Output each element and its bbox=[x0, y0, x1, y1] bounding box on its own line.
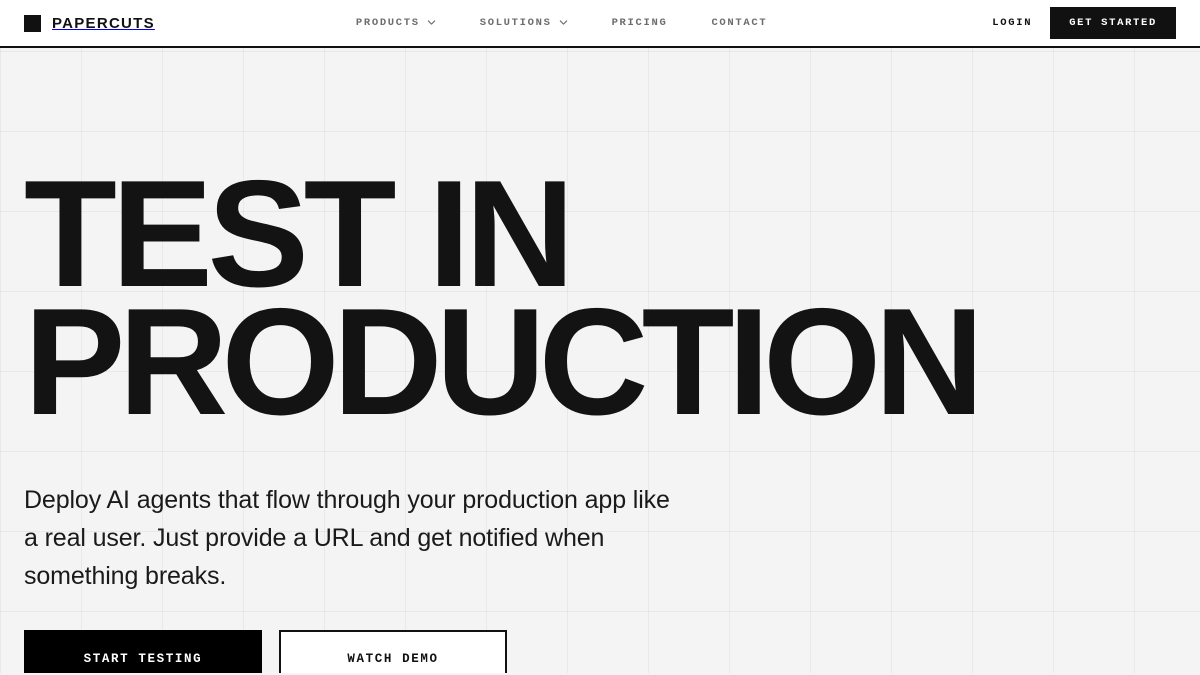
page-title: TEST IN PRODUCTION bbox=[24, 170, 1144, 427]
nav-item-label: CONTACT bbox=[711, 17, 767, 29]
hero-subtitle: Deploy AI agents that flow through your … bbox=[24, 481, 684, 596]
nav-item-products[interactable]: PRODUCTS bbox=[356, 17, 436, 29]
get-started-button[interactable]: GET STARTED bbox=[1050, 7, 1176, 40]
brand-name: PAPERCUTS bbox=[52, 16, 155, 31]
nav-item-label: SOLUTIONS bbox=[480, 17, 552, 29]
nav-item-label: PRODUCTS bbox=[356, 17, 420, 29]
brand-logo[interactable]: PAPERCUTS bbox=[24, 15, 155, 32]
main-nav: PRODUCTS SOLUTIONS PRICING CONTACT bbox=[356, 17, 767, 29]
start-testing-button[interactable]: START TESTING bbox=[24, 630, 262, 673]
site-header: PAPERCUTS PRODUCTS SOLUTIONS PRICING CON… bbox=[0, 0, 1200, 48]
watch-demo-button[interactable]: WATCH DEMO bbox=[279, 630, 507, 673]
login-link[interactable]: LOGIN bbox=[992, 17, 1032, 29]
page-title-line-2: PRODUCTION bbox=[24, 298, 1144, 426]
chevron-down-icon bbox=[559, 18, 568, 27]
hero-content: TEST IN PRODUCTION Deploy AI agents that… bbox=[0, 48, 1200, 673]
header-actions: LOGIN GET STARTED bbox=[992, 0, 1200, 46]
nav-item-contact[interactable]: CONTACT bbox=[711, 17, 767, 29]
chevron-down-icon bbox=[427, 18, 436, 27]
hero-button-group: START TESTING WATCH DEMO bbox=[24, 630, 1200, 673]
nav-item-label: PRICING bbox=[612, 17, 668, 29]
nav-item-solutions[interactable]: SOLUTIONS bbox=[480, 17, 568, 29]
black-square-logo-icon bbox=[24, 15, 41, 32]
nav-item-pricing[interactable]: PRICING bbox=[612, 17, 668, 29]
hero-section: TEST IN PRODUCTION Deploy AI agents that… bbox=[0, 48, 1200, 673]
